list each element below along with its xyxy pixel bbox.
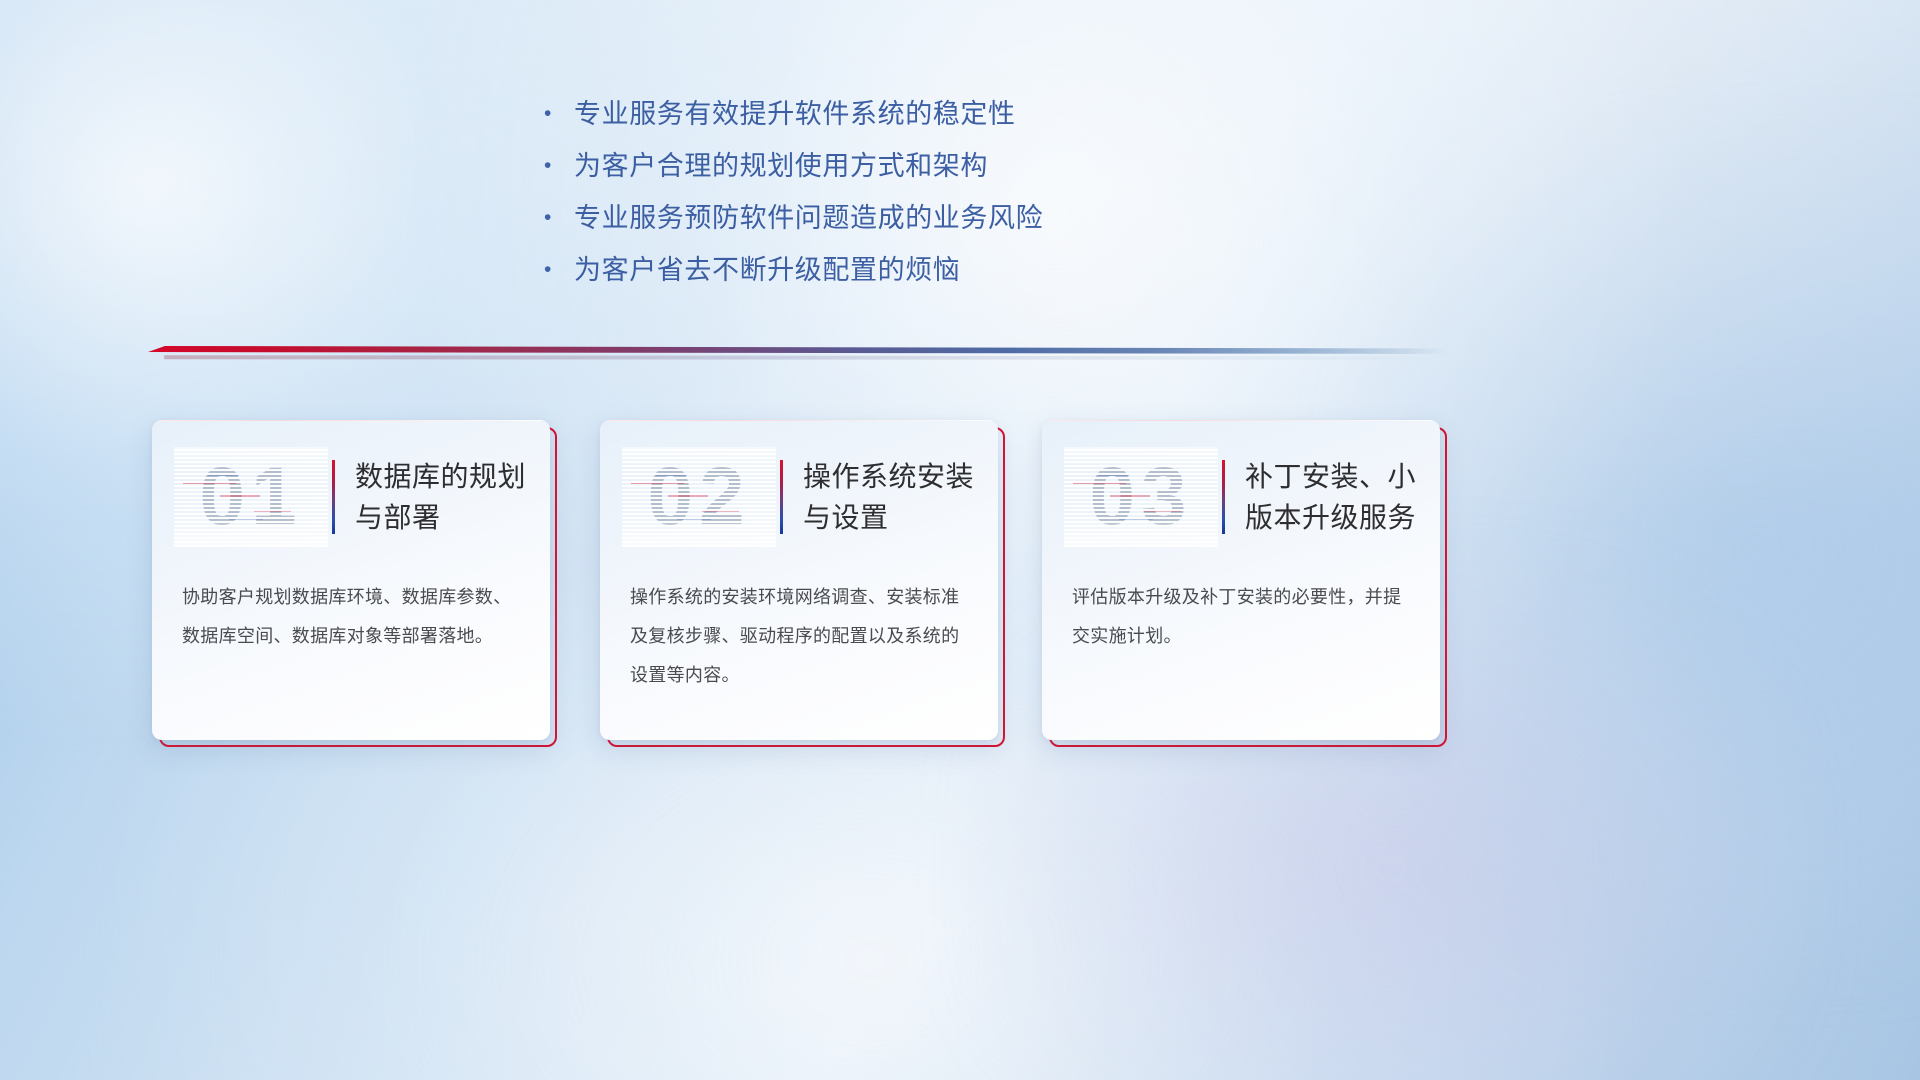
card-header: 03 补丁安装、小版本升级服务 xyxy=(1042,438,1440,556)
number-fade-mask xyxy=(174,447,328,547)
card-surface[interactable]: 02 操作系统安装与设置 操作系统的安装环境网络调查、安装标准及复核步骤、驱动程… xyxy=(600,420,998,740)
card-number-badge: 02 xyxy=(622,447,776,547)
card-body-text: 评估版本升级及补丁安装的必要性，并提交实施计划。 xyxy=(1072,578,1414,656)
divider-shadow xyxy=(164,355,1438,360)
card-02[interactable]: 02 操作系统安装与设置 操作系统的安装环境网络调查、安装标准及复核步骤、驱动程… xyxy=(600,420,998,740)
card-body-text: 操作系统的安装环境网络调查、安装标准及复核步骤、驱动程序的配置以及系统的设置等内… xyxy=(630,578,972,695)
card-header: 01 数据库的规划与部署 xyxy=(152,438,550,556)
card-title-separator xyxy=(780,460,783,534)
bullet-item: • 专业服务有效提升软件系统的稳定性 xyxy=(540,88,1300,140)
bullet-text: 专业服务预防软件问题造成的业务风险 xyxy=(574,192,1043,244)
card-01[interactable]: 01 数据库的规划与部署 协助客户规划数据库环境、数据库参数、数据库空间、数据库… xyxy=(152,420,550,740)
bullet-item: • 为客户合理的规划使用方式和架构 xyxy=(540,140,1300,192)
bullet-marker-icon: • xyxy=(540,88,574,140)
section-divider xyxy=(148,344,1448,366)
number-fade-mask xyxy=(1064,447,1218,547)
bullet-marker-icon: • xyxy=(540,192,574,244)
card-title: 数据库的规划与部署 xyxy=(355,456,550,538)
card-title-separator xyxy=(332,460,335,534)
bullet-text: 为客户省去不断升级配置的烦恼 xyxy=(574,244,960,296)
card-title: 操作系统安装与设置 xyxy=(803,456,998,538)
card-body-text: 协助客户规划数据库环境、数据库参数、数据库空间、数据库对象等部署落地。 xyxy=(182,578,524,656)
card-top-highlight xyxy=(1042,420,1440,421)
bullet-text: 为客户合理的规划使用方式和架构 xyxy=(574,140,988,192)
bullet-text: 专业服务有效提升软件系统的稳定性 xyxy=(574,88,1016,140)
bullet-item: • 专业服务预防软件问题造成的业务风险 xyxy=(540,192,1300,244)
card-top-highlight xyxy=(152,420,550,421)
card-title-separator xyxy=(1222,460,1225,534)
bullet-marker-icon: • xyxy=(540,244,574,296)
card-surface[interactable]: 01 数据库的规划与部署 协助客户规划数据库环境、数据库参数、数据库空间、数据库… xyxy=(152,420,550,740)
bullet-list: • 专业服务有效提升软件系统的稳定性 • 为客户合理的规划使用方式和架构 • 专… xyxy=(540,88,1300,296)
card-03[interactable]: 03 补丁安装、小版本升级服务 评估版本升级及补丁安装的必要性，并提交实施计划。 xyxy=(1042,420,1440,740)
card-number-badge: 01 xyxy=(174,447,328,547)
card-surface[interactable]: 03 补丁安装、小版本升级服务 评估版本升级及补丁安装的必要性，并提交实施计划。 xyxy=(1042,420,1440,740)
card-header: 02 操作系统安装与设置 xyxy=(600,438,998,556)
bullet-item: • 为客户省去不断升级配置的烦恼 xyxy=(540,244,1300,296)
bullet-marker-icon: • xyxy=(540,140,574,192)
card-title: 补丁安装、小版本升级服务 xyxy=(1245,456,1440,538)
card-number-badge: 03 xyxy=(1064,447,1218,547)
number-fade-mask xyxy=(622,447,776,547)
card-top-highlight xyxy=(600,420,998,421)
card-row: 01 数据库的规划与部署 协助客户规划数据库环境、数据库参数、数据库空间、数据库… xyxy=(0,420,1920,760)
